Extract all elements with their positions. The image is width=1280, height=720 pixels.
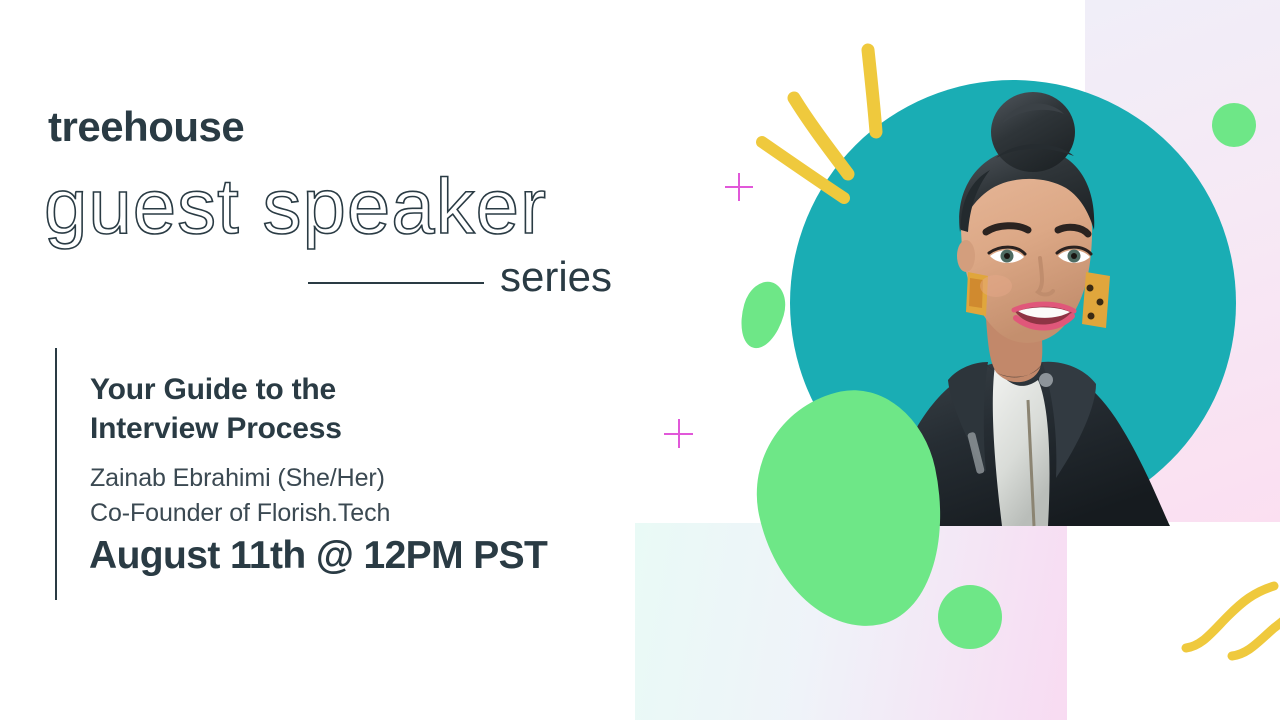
series-divider-rule [308,282,484,284]
svg-text:guest speaker: guest speaker [44,163,547,250]
green-circle-top-right [1212,103,1256,147]
series-label: series [500,256,612,298]
talk-title-line-1: Your Guide to the [90,370,560,409]
plus-mark-icon [725,173,753,201]
headline-outlined: guest speaker [40,163,660,253]
speaker-role: Co-Founder of Florish.Tech [90,496,560,531]
brand-name: treehouse [48,106,244,148]
event-datetime: August 11th @ 12PM PST [89,536,547,575]
speaker-info: Zainab Ebrahimi (She/Her) Co-Founder of … [90,461,560,530]
wavy-lines-icon [1150,560,1280,685]
vertical-accent-rule [55,348,57,600]
promo-graphic: treehouse guest speaker series Your Guid… [0,0,1280,720]
plus-mark-icon [664,419,693,448]
green-bean-blob [733,277,791,354]
talk-title: Your Guide to the Interview Process [90,370,560,449]
green-circle-bottom [938,585,1002,649]
speaker-name: Zainab Ebrahimi (She/Her) [90,461,560,496]
talk-title-line-2: Interview Process [90,409,560,448]
